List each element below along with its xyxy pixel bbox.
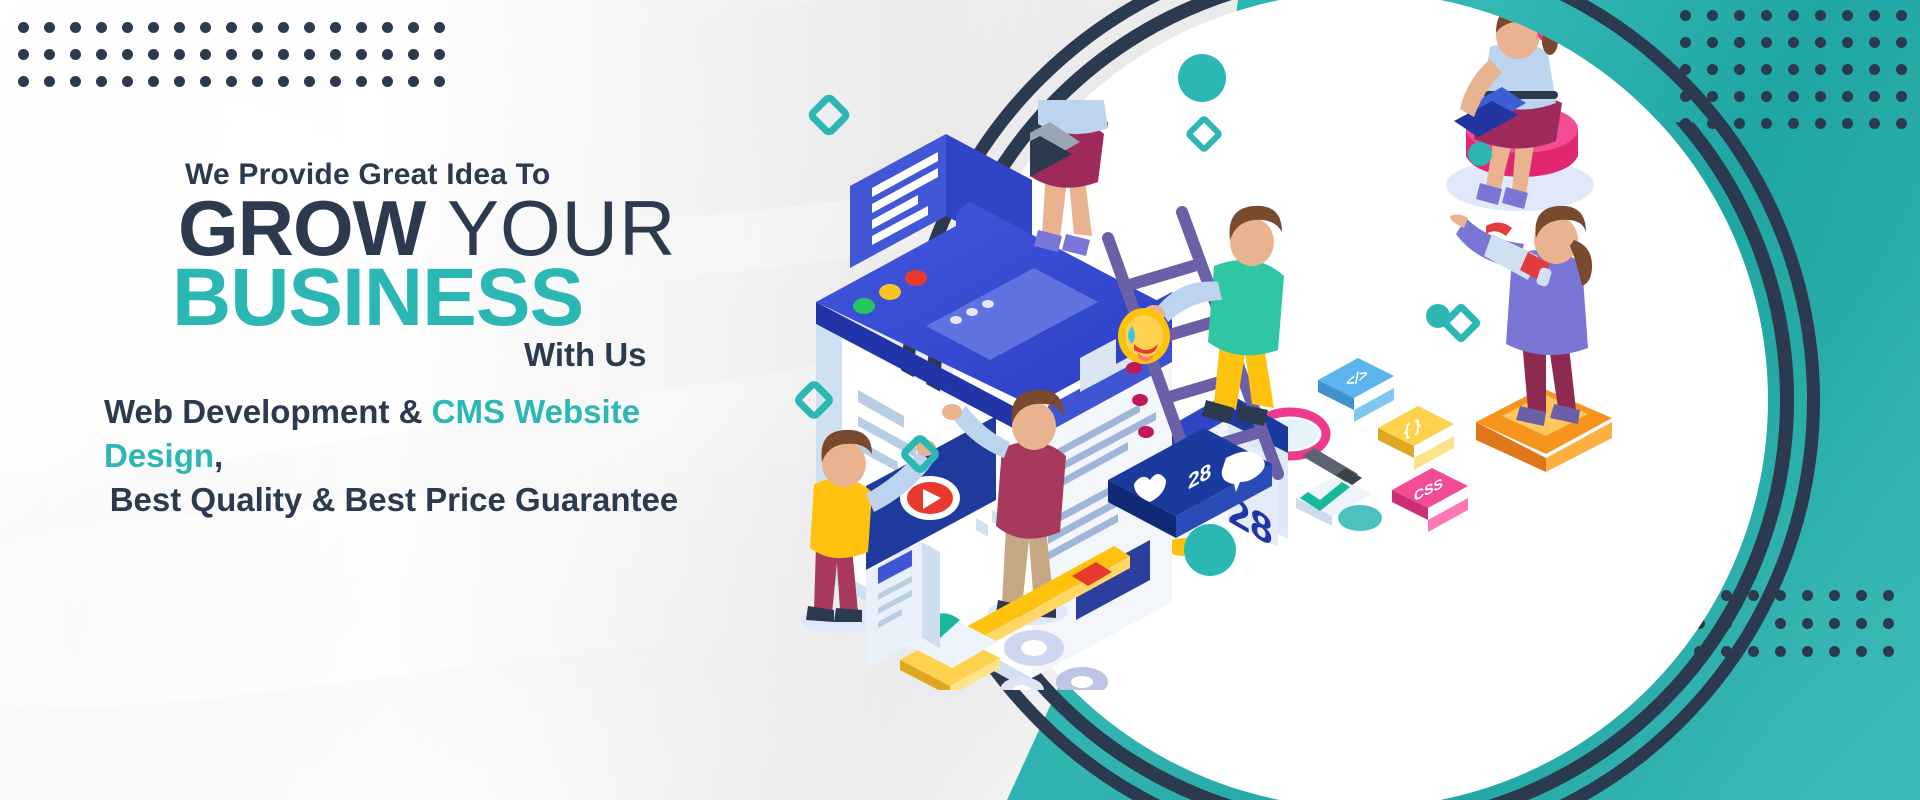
grid-dot: [1883, 618, 1894, 629]
grid-dot: [434, 49, 445, 60]
grid-dot: [1869, 118, 1880, 129]
grid-dot: [1896, 37, 1907, 48]
grid-dot: [1842, 37, 1853, 48]
grid-dot: [1856, 618, 1867, 629]
grid-dot: [1842, 64, 1853, 75]
tagline: Web Development & CMS Website Design, Be…: [104, 390, 744, 522]
grid-dot: [1869, 64, 1880, 75]
grid-dot: [304, 22, 315, 33]
grid-dot: [278, 76, 289, 87]
grid-dot: [174, 76, 185, 87]
traffic-light-yellow: [879, 284, 901, 300]
grid-dot: [122, 49, 133, 60]
grid-dot: [1869, 10, 1880, 21]
grid-dot: [1829, 618, 1840, 629]
grid-dot: [382, 22, 393, 33]
grid-dot: [44, 22, 55, 33]
grid-dot: [1856, 646, 1867, 657]
grid-dot: [226, 22, 237, 33]
social-like-badge: 28: [1108, 428, 1272, 538]
tagline-plain-1: Web Development &: [104, 393, 432, 430]
grid-dot: [252, 76, 263, 87]
grid-dot: [1829, 646, 1840, 657]
grid-dot: [382, 49, 393, 60]
grid-dot: [18, 76, 29, 87]
grid-dot: [44, 49, 55, 60]
grid-dot: [226, 76, 237, 87]
grid-dot: [434, 22, 445, 33]
character-woman-on-window-top: [1030, 100, 1108, 256]
grid-dot: [200, 22, 211, 33]
grid-dot: [174, 22, 185, 33]
grid-dot: [148, 22, 159, 33]
grid-dot: [226, 49, 237, 60]
grid-dot: [1842, 91, 1853, 102]
grid-dot: [408, 76, 419, 87]
grid-dot: [304, 49, 315, 60]
grid-dot: [148, 76, 159, 87]
grid-dot: [278, 49, 289, 60]
tagline-line-2: Best Quality & Best Price Guarantee: [104, 478, 684, 522]
traffic-light-red: [905, 270, 927, 286]
grid-dot: [356, 22, 367, 33]
grid-dot: [1856, 590, 1867, 601]
headline-suffix: With Us: [524, 336, 647, 374]
grid-dot: [382, 76, 393, 87]
headline-line-2: BUSINESS: [172, 258, 583, 338]
grid-dot: [1829, 590, 1840, 601]
grid-dot: [200, 76, 211, 87]
grid-dot: [148, 49, 159, 60]
grid-dot: [1896, 10, 1907, 21]
teal-dot: [1468, 142, 1492, 166]
grid-dot: [1842, 10, 1853, 21]
tagline-comma: ,: [214, 437, 223, 474]
traffic-light-green: [853, 298, 875, 314]
grid-dot: [200, 49, 211, 60]
grid-dot: [330, 76, 341, 87]
grid-dot: [96, 49, 107, 60]
grid-dot: [44, 76, 55, 87]
grid-dot: [96, 76, 107, 87]
grid-dot: [1869, 91, 1880, 102]
grid-dot: [122, 76, 133, 87]
grid-dot: [1896, 118, 1907, 129]
grid-dot: [356, 76, 367, 87]
grid-dot: [1896, 64, 1907, 75]
grid-dot: [122, 22, 133, 33]
grid-dot: [1896, 91, 1907, 102]
grid-dot: [278, 22, 289, 33]
grid-dot: [1883, 590, 1894, 601]
grid-dot: [1842, 118, 1853, 129]
hero-banner: </> { } CSS: [0, 0, 1920, 800]
ladder-and-people-svg: 28: [1030, 100, 1450, 620]
grid-dot: [408, 22, 419, 33]
grid-dot: [356, 49, 367, 60]
grid-dot: [330, 22, 341, 33]
grid-dot: [70, 49, 81, 60]
grid-dot: [1883, 646, 1894, 657]
grid-dot: [304, 76, 315, 87]
grid-dot: [434, 76, 445, 87]
grid-dot: [330, 49, 341, 60]
grid-dot: [1869, 37, 1880, 48]
character-woman-on-stool: [1446, 5, 1594, 211]
diamond-outline-icon: [811, 97, 848, 134]
grid-dot: [18, 22, 29, 33]
emoji-icon: [1118, 308, 1170, 364]
grid-dot: [252, 49, 263, 60]
grid-dot: [96, 22, 107, 33]
grid-dot: [70, 76, 81, 87]
character-woman-with-megaphone: [1450, 206, 1612, 472]
grid-dot: [174, 49, 185, 60]
grid-dot: [18, 49, 29, 60]
grid-dot: [252, 22, 263, 33]
grid-dot: [70, 22, 81, 33]
grid-dot: [408, 49, 419, 60]
